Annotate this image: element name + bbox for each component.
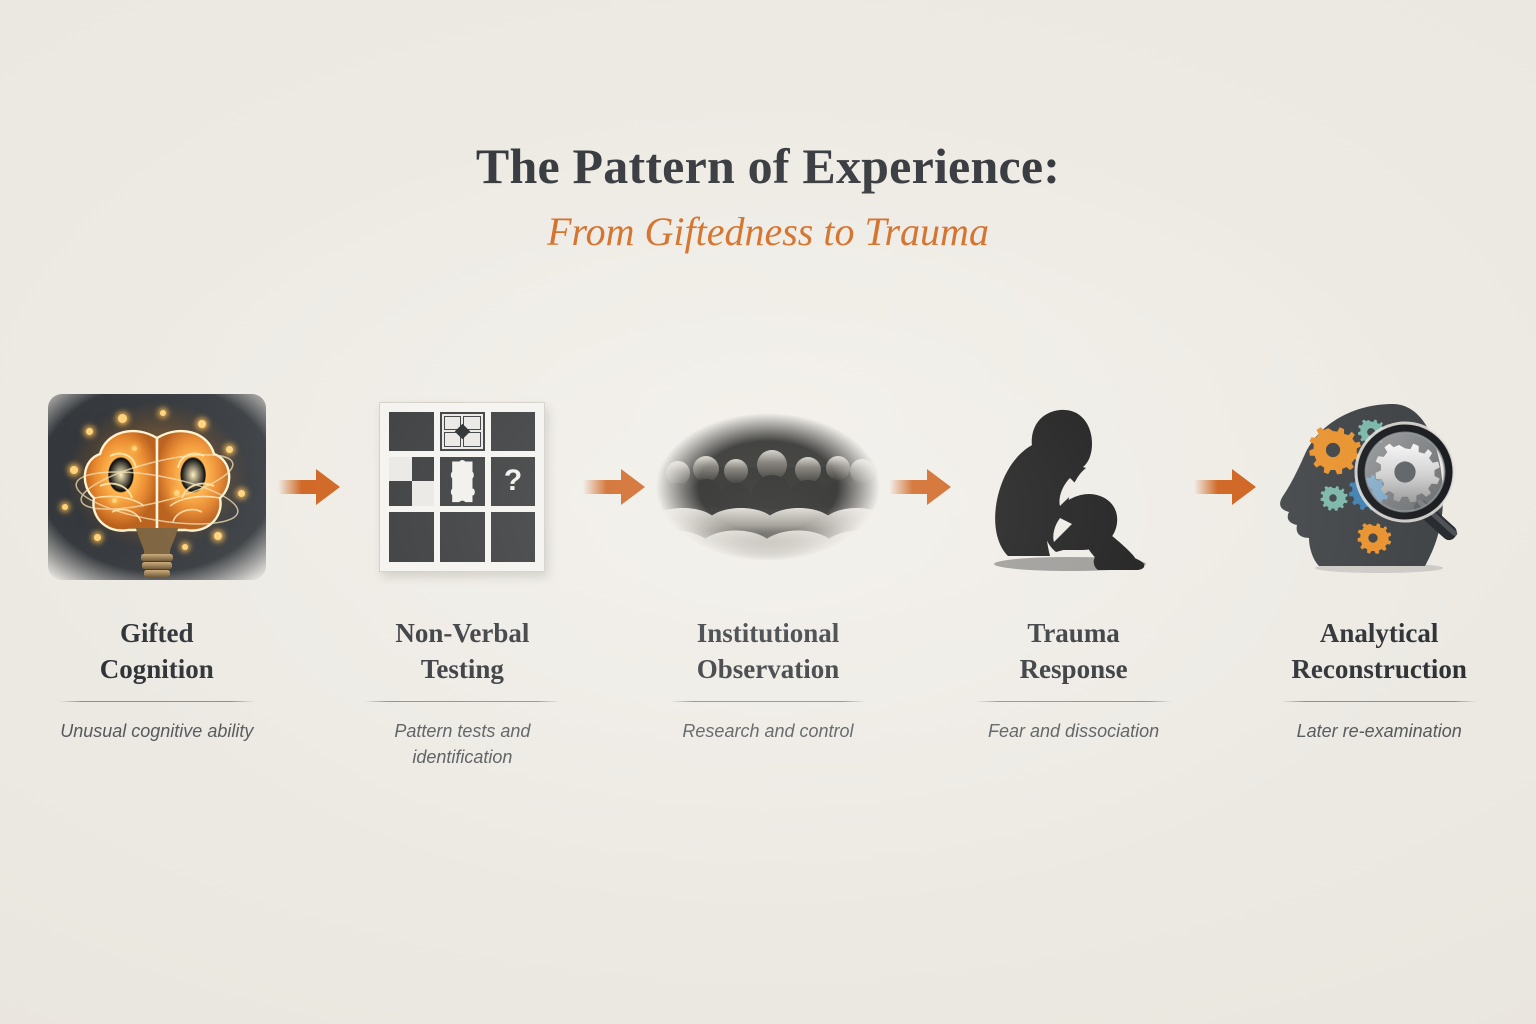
process-flow: Gifted Cognition Unusual cognitive abili… xyxy=(40,392,1496,770)
grid-cell-dark xyxy=(491,412,536,451)
step-title: Trauma Response xyxy=(1020,616,1128,687)
grid-cell-quadrant-diamond xyxy=(440,412,485,451)
step-title-line: Gifted xyxy=(100,616,214,652)
step-title-line: Analytical xyxy=(1291,616,1466,652)
infographic-page: The Pattern of Experience: From Giftedne… xyxy=(0,0,1536,1024)
flow-step-non-verbal-testing: ? Non-Verbal Testing Pattern tests and i… xyxy=(346,392,580,770)
flow-step-gifted-cognition: Gifted Cognition Unusual cognitive abili… xyxy=(40,392,274,744)
step-caption: Later re-examination xyxy=(1297,718,1462,744)
step-title-line: Non-Verbal xyxy=(395,616,529,652)
page-subtitle: From Giftedness to Trauma xyxy=(0,208,1536,256)
flow-step-institutional-observation: Institutional Observation Research and c… xyxy=(651,392,885,744)
grid-cell-checkerboard xyxy=(389,457,434,507)
step-divider xyxy=(670,701,866,702)
step-title-line: Observation xyxy=(697,652,840,688)
flow-step-analytical-reconstruction: Analytical Reconstruction Later re-exami… xyxy=(1262,392,1496,744)
step-title-line: Trauma xyxy=(1020,616,1128,652)
step-title-line: Institutional xyxy=(697,616,840,652)
arrow-right-icon xyxy=(579,392,651,582)
step-title: Non-Verbal Testing xyxy=(395,616,529,687)
step-caption: Unusual cognitive ability xyxy=(60,718,253,744)
step-title-line: Cognition xyxy=(100,652,214,688)
step-caption: Fear and dissociation xyxy=(988,718,1159,744)
step-divider xyxy=(976,701,1172,702)
head-with-gears-magnifier-icon xyxy=(1275,398,1483,576)
grid-cell-dark xyxy=(389,412,434,451)
step-divider xyxy=(1281,701,1477,702)
step-title-line: Reconstruction xyxy=(1291,652,1466,688)
step-caption: Pattern tests and identification xyxy=(357,718,567,770)
page-title: The Pattern of Experience: xyxy=(0,138,1536,194)
sitting-person-silhouette-icon xyxy=(974,394,1174,580)
grid-cell-question: ? xyxy=(491,457,536,507)
step-title: Gifted Cognition xyxy=(100,616,214,687)
header: The Pattern of Experience: From Giftedne… xyxy=(0,138,1536,256)
step-title: Analytical Reconstruction xyxy=(1291,616,1466,687)
icon-container xyxy=(653,392,883,582)
icon-container xyxy=(1264,392,1494,582)
question-mark-label: ? xyxy=(491,457,536,507)
arrow-right-icon xyxy=(1190,392,1262,582)
grid-cell-dark xyxy=(440,512,485,562)
icon-container xyxy=(42,392,272,582)
glowing-brain-lightbulb-icon xyxy=(48,394,266,580)
step-title: Institutional Observation xyxy=(697,616,840,687)
step-caption: Research and control xyxy=(682,718,853,744)
grid-cell-puzzle-piece-light xyxy=(440,457,485,507)
arrow-right-icon xyxy=(274,392,346,582)
grid-cell-puzzle-piece-dark xyxy=(491,512,536,562)
step-title-line: Response xyxy=(1020,652,1128,688)
grid-cell-dark xyxy=(389,512,434,562)
icon-container: ? xyxy=(347,392,577,582)
arrow-right-icon xyxy=(885,392,957,582)
step-divider xyxy=(59,701,255,702)
flow-step-trauma-response: Trauma Response Fear and dissociation xyxy=(957,392,1191,744)
step-divider xyxy=(364,701,560,702)
icon-container xyxy=(959,392,1189,582)
step-title-line: Testing xyxy=(395,652,529,688)
audience-silhouettes-icon xyxy=(656,413,880,561)
matrix-puzzle-grid-icon: ? xyxy=(379,402,545,572)
